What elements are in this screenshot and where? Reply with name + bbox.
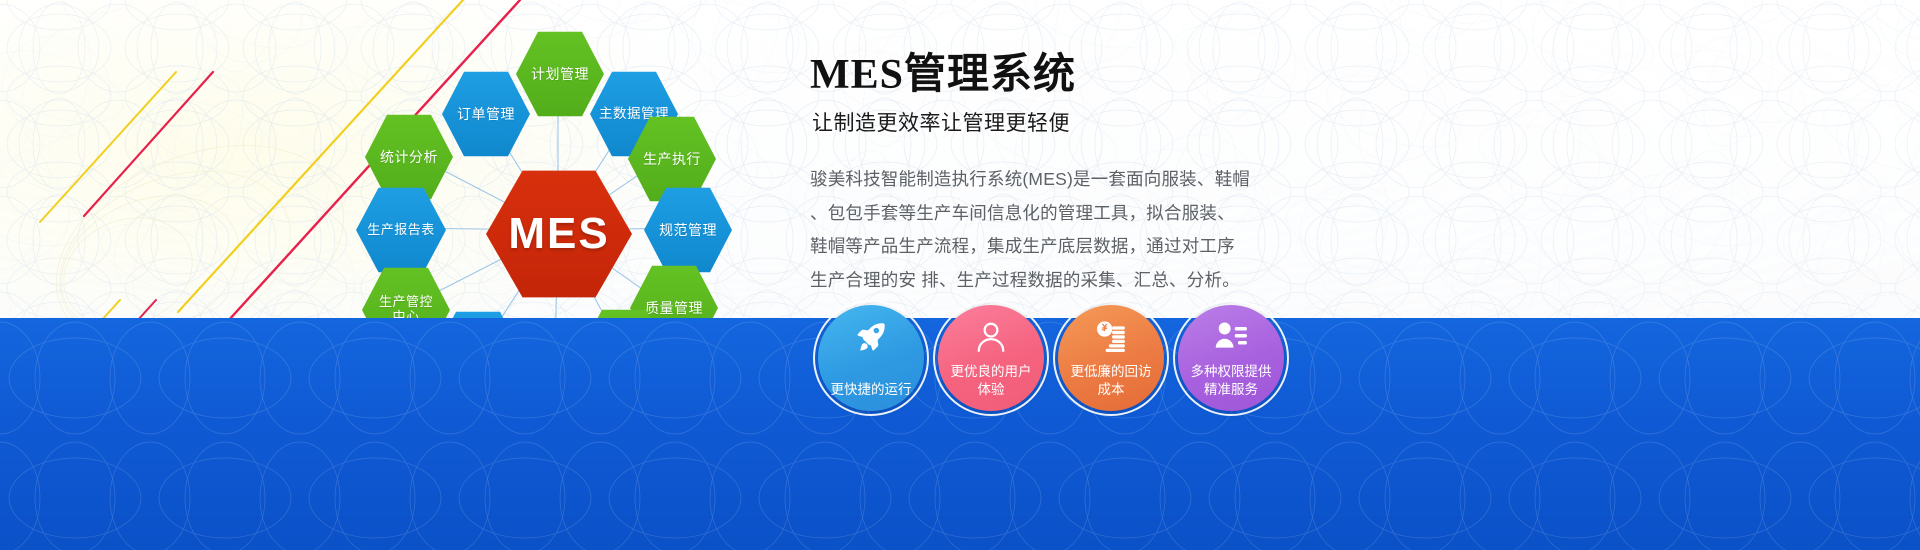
feature-badge-better-user-experience[interactable]: 更优良的用户体验 (938, 305, 1044, 411)
page-title: MES管理系统 (810, 52, 1330, 98)
hex-node-label: 生产执行 (637, 151, 707, 167)
rocket-icon (854, 320, 888, 354)
hex-node-label: 统计分析 (374, 149, 444, 165)
feature-badge-list: 更快捷的运行 更优良的用户体验 (818, 305, 1338, 415)
description-line: 骏美科技智能制造执行系统(MES)是一套面向服装、鞋帽 (810, 163, 1280, 197)
feature-badge-lower-revisit-cost[interactable]: 更低廉的回访成本 (1058, 305, 1164, 411)
user-list-icon (1214, 320, 1248, 354)
badge-ring (813, 300, 929, 416)
badge-label: 更低廉的回访成本 (1063, 363, 1159, 398)
description-paragraph: 骏美科技智能制造执行系统(MES)是一套面向服装、鞋帽 、包包手套等生产车间信息… (810, 163, 1280, 297)
hex-node-label: 计划管理 (525, 66, 595, 82)
badge-ring (1053, 300, 1169, 416)
feature-badge-faster-operation[interactable]: 更快捷的运行 (818, 305, 924, 411)
badge-ring (1173, 300, 1289, 416)
description-line: 鞋帽等产品生产流程，集成生产底层数据，通过对工序 (810, 230, 1280, 264)
feature-badge-multi-permission-service[interactable]: 多种权限提供精准服务 (1178, 305, 1284, 411)
banner-root: 计划管理 订单管理 主数据管理 生产执行 统计分析 规范管理 生产报告表 质量管… (0, 0, 1920, 550)
banner-text-block: MES管理系统 让制造更效率让管理更轻便 骏美科技智能制造执行系统(MES)是一… (810, 52, 1330, 298)
hex-core-label: MES (502, 209, 615, 260)
coins-icon (1094, 320, 1128, 354)
badge-label: 更快捷的运行 (823, 381, 919, 398)
badge-label: 更优良的用户体验 (943, 363, 1039, 398)
page-subtitle: 让制造更效率让管理更轻便 (812, 107, 1330, 137)
hex-node-label: 生产报告表 (361, 223, 441, 238)
description-line: 生产合理的安 排、生产过程数据的采集、汇总、分析。 (810, 264, 1280, 298)
hex-node-label: 规范管理 (653, 222, 723, 238)
badge-label: 多种权限提供精准服务 (1183, 363, 1279, 398)
description-line: 、包包手套等生产车间信息化的管理工具，拟合服装、 (810, 197, 1280, 231)
user-icon (974, 320, 1008, 354)
hex-node-label: 订单管理 (451, 106, 521, 122)
hex-node-label: 质量管理 (639, 300, 709, 316)
badge-ring (933, 300, 1049, 416)
